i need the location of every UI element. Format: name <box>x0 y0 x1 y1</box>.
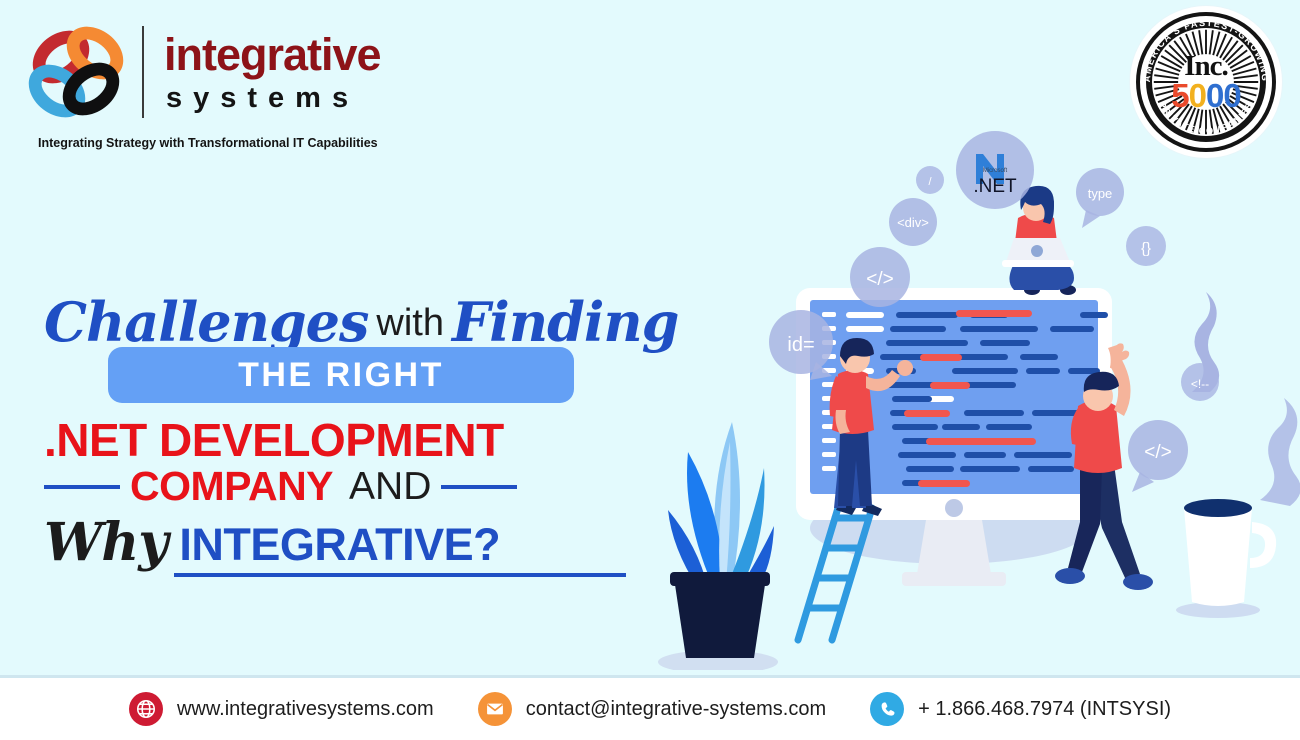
svg-text:<!--: <!-- <box>1191 377 1209 391</box>
plant-pot <box>674 578 766 658</box>
code-bubble-tag-2: </> <box>1128 420 1188 492</box>
footer-email[interactable]: contact@integrative-systems.com <box>478 692 826 726</box>
logo-wordmark-primary: integrative <box>164 32 381 77</box>
code-bubble-tag-1: </> <box>850 247 910 307</box>
headline-banner-label: THE RIGHT <box>238 356 444 395</box>
footer-email-label: contact@integrative-systems.com <box>526 698 826 721</box>
headline-company: COMPANY <box>130 466 333 507</box>
svg-text:{}: {} <box>1141 240 1151 257</box>
headline-line-5: Why INTEGRATIVE? <box>44 512 500 573</box>
svg-text:</>: </> <box>1144 442 1171 463</box>
developer-illustration: Microsoft .NET / <div> </> <box>640 110 1300 670</box>
phone-icon <box>870 692 904 726</box>
code-bubble-braces: {} <box>1126 226 1166 266</box>
footer-website[interactable]: www.integrativesystems.com <box>129 692 434 726</box>
headline-script-why: Why <box>44 512 167 573</box>
headline-connector-and: AND <box>349 467 431 506</box>
headline-net-development: .NET DEVELOPMENT <box>44 417 504 463</box>
headline-dash-right <box>441 485 517 489</box>
potted-plant <box>658 422 778 670</box>
contact-footer: www.integrativesystems.com contact@integ… <box>0 675 1300 740</box>
logo-tagline: Integrating Strategy with Transformation… <box>38 136 378 150</box>
footer-phone[interactable]: + 1.866.468.7974 (INTSYSI) <box>870 692 1171 726</box>
footer-phone-label: + 1.866.468.7974 (INTSYSI) <box>918 698 1171 721</box>
marketing-banner: integrative systems Integrating Strategy… <box>0 0 1300 740</box>
code-bubble-type: type <box>1076 168 1124 228</box>
logo-divider <box>142 26 144 118</box>
dotnet-logo-bubble: Microsoft .NET <box>956 131 1034 209</box>
logo-wordmark-secondary: systems <box>166 84 359 113</box>
company-logo[interactable]: integrative systems Integrating Strategy… <box>18 16 413 141</box>
dotnet-product-label: .NET <box>973 176 1017 197</box>
headline-line-1: ChallengeswithFinding <box>44 290 644 352</box>
badge-arc-bottom-label: PRIVATE COMPANIES <box>1157 100 1255 136</box>
code-bubble-slash: / <box>916 166 944 194</box>
code-bubble-id: id= <box>769 310 833 380</box>
headline-line-4: COMPANY AND <box>44 466 644 507</box>
inc-5000-award-badge: Inc. 5000 AMERICA'S FASTEST-GROWING PRIV… <box>1130 6 1282 158</box>
headline-highlight-banner: THE RIGHT <box>108 347 574 403</box>
svg-text:</>: </> <box>866 269 893 290</box>
svg-text:type: type <box>1088 186 1113 201</box>
plant-leaves <box>668 422 774 590</box>
footer-website-label: www.integrativesystems.com <box>177 698 434 721</box>
headline-dash-left <box>44 485 120 489</box>
code-bubble-div: <div> <box>889 198 937 246</box>
svg-text:PRIVATE COMPANIES: PRIVATE COMPANIES <box>1157 100 1255 136</box>
badge-arc-bottom-text: PRIVATE COMPANIES <box>1130 6 1282 158</box>
headline-block: ChallengeswithFinding THE RIGHT .NET DEV… <box>44 290 644 352</box>
code-bubble-comment: <!-- <box>1181 363 1219 401</box>
logo-rings-icon <box>22 22 132 127</box>
mail-icon <box>478 692 512 726</box>
svg-text:<div>: <div> <box>897 215 929 230</box>
decorative-wisp <box>1260 398 1300 506</box>
headline-integrative: INTEGRATIVE? <box>179 519 500 571</box>
coffee-mug <box>1176 292 1276 618</box>
headline-script-challenges: Challenges <box>44 290 368 354</box>
globe-icon <box>129 692 163 726</box>
headline-underline <box>174 573 626 577</box>
dotnet-vendor-label: Microsoft <box>983 168 1008 174</box>
svg-text:id=: id= <box>787 334 814 356</box>
headline-connector-with: with <box>376 302 444 344</box>
